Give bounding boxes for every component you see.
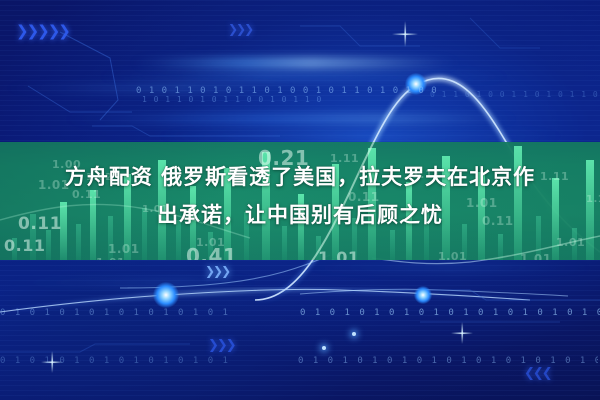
circuit-trace [470,18,540,48]
light-beam [0,281,260,284]
binary-row-left-lower: 0 1 0 1 0 1 0 1 0 1 0 1 0 1 0 1 0 1 0 1 … [0,356,230,366]
chevron-cluster-bottom-right: ❮❮❮ [524,366,551,381]
ticker-number: 0.11 [4,236,45,255]
headline-line-1: 方舟配资 俄罗斯看透了美国，拉夫罗夫在北京作 [0,158,600,196]
headline: 方舟配资 俄罗斯看透了美国，拉夫罗夫在北京作 出承诺，让中国别有后顾之忧 [0,158,600,234]
circuit-trace [390,290,600,300]
lower-flat-curve-2 [300,289,568,296]
ticker-number: 1.01 [318,248,359,260]
ticker-bar [390,230,395,260]
ticker-number: 1.01 [520,252,552,260]
light-beam [60,116,520,122]
circuit-trace [60,32,118,120]
binary-row-left: 0 1 0 1 0 1 0 1 0 1 0 1 0 1 0 1 0 1 0 1 … [0,308,230,318]
ticker-number: 1.01 [108,242,140,256]
circuit-trace [28,86,132,112]
ticker-number: 1.01 [96,256,125,260]
chevron-cluster-upper-mid: ❯❯❯ [228,22,252,36]
chevron-cluster-lower-mid: ❯❯❯ [208,338,235,353]
binary-row-mid: 0 1 0 1 0 1 0 1 0 1 0 1 0 1 0 1 0 1 0 1 … [300,308,600,318]
sparkle-star-lower-left [41,351,63,373]
light-beam [130,59,460,67]
glow-node-curve-peak [405,73,427,95]
ticker-bar [46,230,51,260]
news-banner-image: ❯❯❯❯❯ ❯❯❯ ❯❯❯ ❯❯❯ ❮❮❮ 0 1 0 1 1 0 1 0 1 … [0,0,600,400]
light-beam [95,74,515,79]
circuit-trace [0,344,190,352]
lower-flat-curve-glow [0,289,530,312]
ticker-number: 1.01 [438,250,467,260]
headline-line-2: 出承诺，让中国别有后顾之忧 [0,196,600,234]
light-beam [0,86,300,90]
circuit-trace [300,26,420,46]
circuit-trace [92,126,280,136]
ticker-number: 0.41 [186,244,237,260]
binary-row-topleft: 0 1 1 0 1 0 0 1 1 0 1 0 1 1 0 0 1 0 1 1 [430,90,600,99]
glow-node-left-line [153,282,179,308]
sparkle-star-upper-right [392,21,418,47]
chevron-cluster-curve: ❯❯❯ [205,264,229,278]
light-beam [300,266,600,269]
binary-row-top: 0 1 0 1 1 0 1 0 1 1 0 1 0 0 1 0 1 1 0 1 … [136,86,436,96]
glow-node-small-left [322,346,326,350]
sparkle-star-lower-mid [451,322,473,344]
ticker-bar [498,234,503,260]
light-beam [150,134,570,138]
ticker-number: 0.11 [252,142,308,143]
binary-row-topright: 1 0 1 1 0 1 0 1 1 0 0 1 0 1 1 0 [142,95,432,104]
glow-node-small-right [352,332,356,336]
glow-node-mid-line [414,286,432,304]
lower-flat-curve [0,289,530,312]
chevron-cluster-top-left: ❯❯❯❯❯ [16,22,69,40]
binary-row-lower: 0 1 0 1 0 1 0 1 0 1 0 1 0 1 0 1 0 1 0 1 … [298,356,598,366]
ticker-number: 1.01 [556,236,585,249]
